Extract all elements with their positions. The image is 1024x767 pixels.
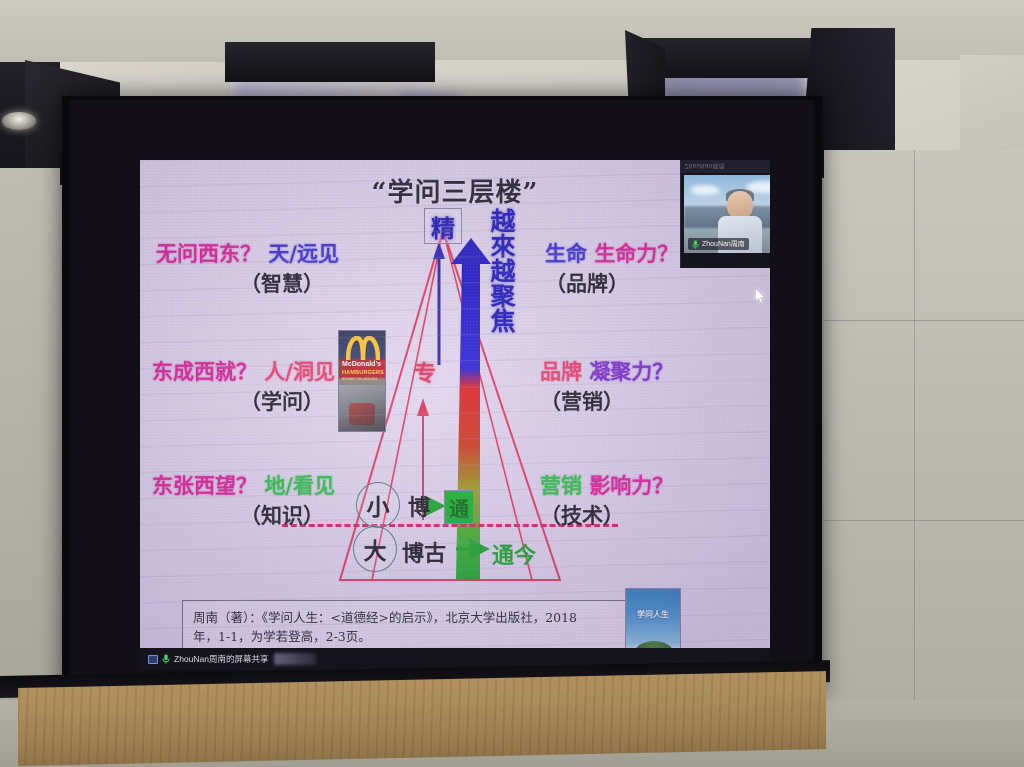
right-row-3-answer: 影响力？ [589,473,673,498]
slide-content: “学问三层楼” [140,160,770,670]
left-row-2: 东成西就？ 人/洞见 [152,356,335,386]
xuewen-rensheng-book-title: 学问人生 [626,609,680,620]
wall-left [0,168,60,713]
left-row-3-sub: （知识） [240,500,324,530]
right-row-2-answer: 凝聚力？ [589,359,673,384]
mcdonalds-title: McDonald's [342,361,384,368]
right-row-3-question: 营销 [540,473,582,498]
vertical-focus-text: 越來越聚焦 [480,208,514,333]
golden-arches-icon [346,336,380,360]
video-panel-header: ZhouNan周南 [681,160,770,173]
screen-share-icon [148,655,158,664]
apex-box: 精 [424,208,462,244]
left-row-2-sub: （学问） [240,386,324,416]
participant-name-label: ZhouNan周南 [702,239,745,249]
citation-line-2: 年，1-1，为学若登高，2-3页。 [193,627,621,646]
wall-seam-horizontal-1 [824,320,1024,321]
ceiling-beam-mid [225,42,435,82]
screen-share-label: ZhouNan周南的屏幕共享 [174,653,268,665]
right-row-3-sub: （技术） [540,500,624,530]
label-tongjin: 通今 [492,538,536,570]
circle-big: 大 [353,526,397,572]
right-row-2-sub: （营销） [540,386,624,416]
lecture-hall-room: “学问三层楼” [0,0,1024,767]
label-bogu: 博古 [402,536,446,568]
projection-screen: “学问三层楼” [140,160,770,670]
label-bo: 博 [408,490,430,522]
cloud-shape-1 [690,185,720,195]
left-row-3-answer: 地/看见 [264,473,335,498]
video-participant-panel[interactable]: ZhouNan周南 ZhouNan周南 [680,160,770,268]
right-row-1: 生命 生命力？ [545,238,678,268]
mcdonalds-subtitle: HAMBURGERS [342,370,384,376]
right-row-1-sub: （品牌） [545,268,629,298]
downlight-icon-left [2,112,36,130]
apex-char-label: 精 [431,209,455,244]
microphone-icon [162,654,170,664]
left-row-3: 东张西望？ 地/看见 [152,470,335,500]
mcdonalds-cover-photo [339,385,386,432]
center-arrow-label: 专 [414,356,436,388]
green-box: 通 [444,490,474,524]
microphone-icon [692,240,699,249]
participant-name-chip: ZhouNan周南 [688,238,749,250]
right-row-2-question: 品牌 [540,359,582,384]
mouse-cursor-icon [755,288,766,304]
green-box-char: 通 [449,493,469,522]
video-feed[interactable]: ZhouNan周南 [684,175,770,253]
mcdonalds-book-cover: McDonald's HAMBURGERS BEHIND THE ARCHES [338,330,386,432]
right-row-2: 品牌 凝聚力？ [540,356,673,386]
left-row-2-question: 东成西就？ [152,359,257,384]
right-row-1-question: 生命 [545,241,587,266]
left-row-1-sub: （智慧） [240,268,324,298]
wall-right [824,150,1024,710]
mcdonalds-tagline: BEHIND THE ARCHES [342,377,384,381]
left-row-1: 无问西东？ 天/远见 [156,238,339,268]
screen-share-blurred-extra [274,653,316,665]
citation-box: 周南（著）：《学问人生：<道德经>的启示》，北京大学出版社，2018 年，1-1… [182,600,632,655]
participant-head [727,191,753,219]
circle-small: 小 [356,482,400,528]
left-row-3-question: 东张西望？ [152,473,257,498]
right-row-1-answer: 生命力？ [594,241,678,266]
wall-seam-horizontal-2 [824,520,1024,521]
screen-share-chip[interactable]: ZhouNan周南的屏幕共享 [140,653,316,665]
right-row-3: 营销 影响力？ [540,470,673,500]
citation-line-1: 周南（著）：《学问人生：<道德经>的启示》，北京大学出版社，2018 [193,608,621,627]
ceiling-panel-far-right [960,55,1024,165]
wall-seam-vertical [914,150,915,710]
left-row-1-answer: 天/远见 [268,241,339,266]
video-panel-header-label: ZhouNan周南 [685,162,725,171]
left-row-1-question: 无问西东？ [156,241,261,266]
left-row-2-answer: 人/洞见 [264,359,335,384]
